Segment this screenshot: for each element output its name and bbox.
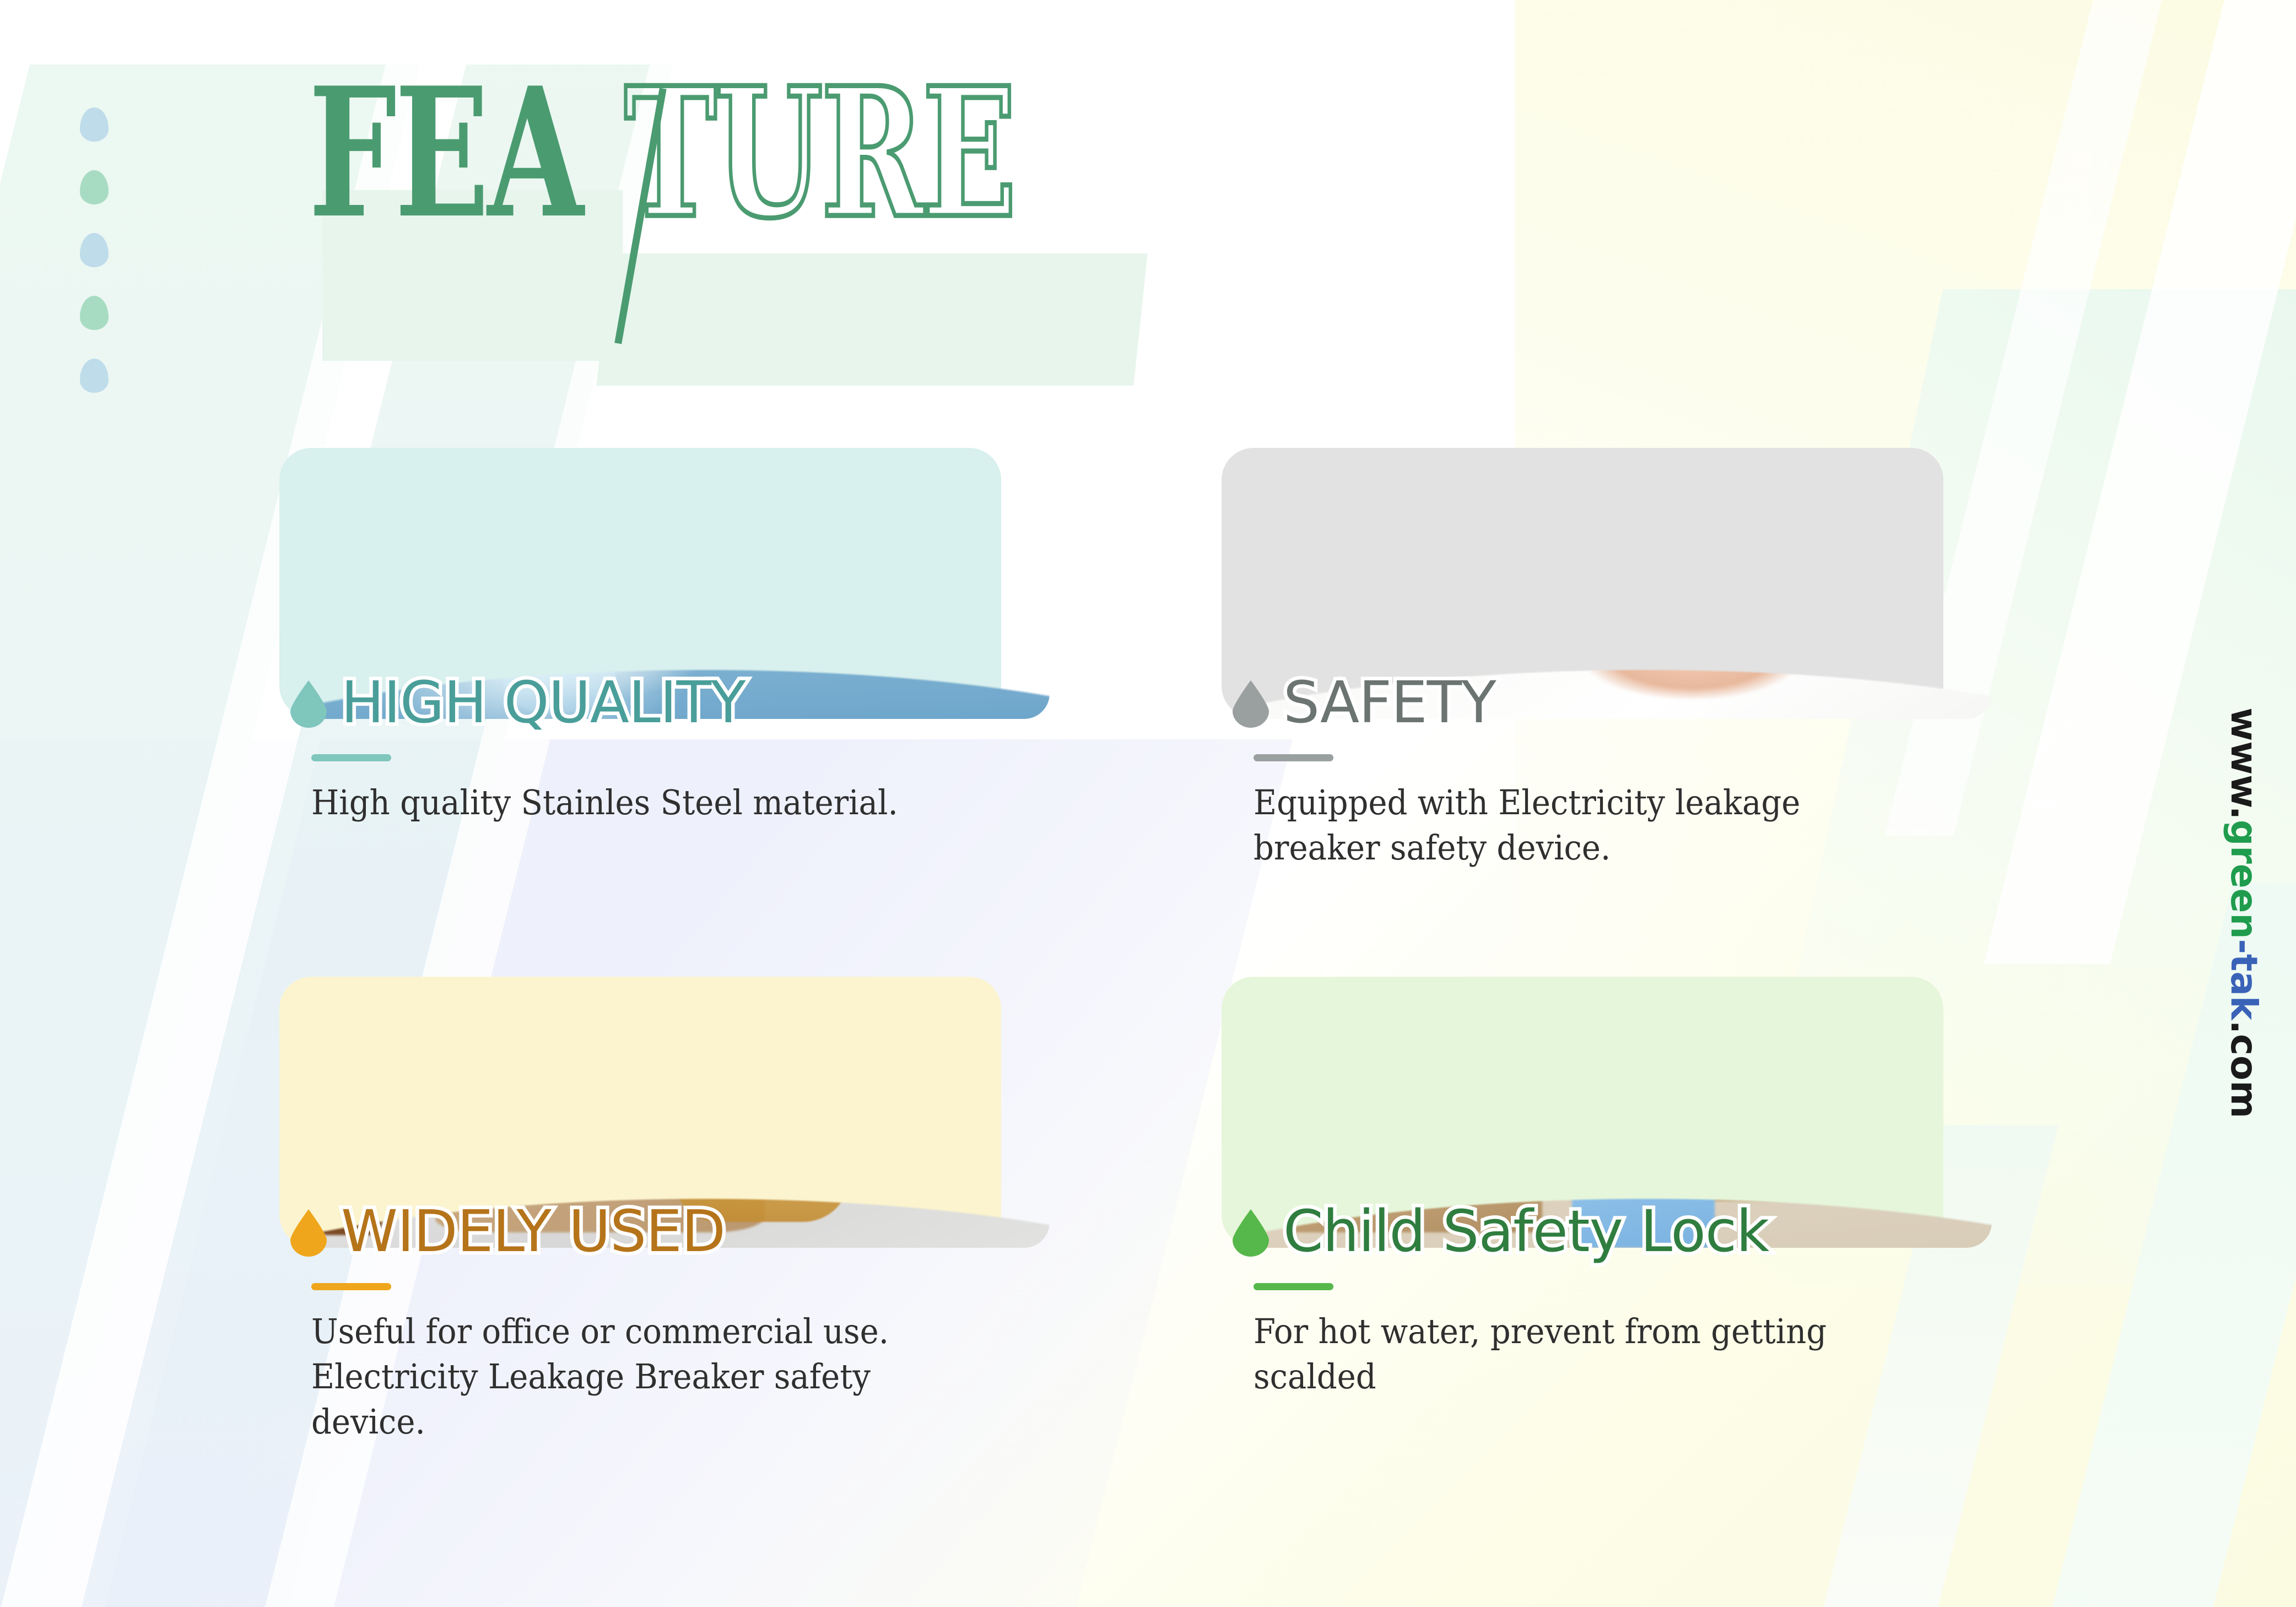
card-heading-row: HIGH QUALITY (290, 674, 1083, 731)
feature-card-safety[interactable]: SAFETY Equipped with Electricity leakage… (1242, 460, 2025, 870)
stacked-books-shape (1340, 1155, 1438, 1186)
feature-card-widely-used[interactable]: WIDELY USED Useful for office or commerc… (300, 989, 1083, 1444)
lemon-in-mug-back (548, 1025, 675, 1098)
card-heading-label: Child Safety Lock (1283, 1203, 1769, 1260)
card-heading-label: HIGH QUALITY (341, 674, 745, 731)
child-yellow-shape (1917, 1046, 1992, 1149)
card-accent-rule (311, 754, 391, 761)
red-heart-shape (1782, 472, 1901, 594)
child-blonde-shape (1767, 1036, 1894, 1165)
child-pink-shape (1512, 1025, 1617, 1113)
card-heading-row: SAFETY (1233, 674, 2025, 731)
child-blue-shape (1257, 1062, 1370, 1170)
water-drop-icon (1233, 1209, 1269, 1257)
url-prefix: www. (2223, 707, 2265, 820)
website-url[interactable]: www.green-tak.com (2223, 707, 2265, 1118)
card-heading-label: WIDELY USED (341, 1203, 725, 1260)
desk-right-shape (1707, 1149, 1947, 1201)
water-drop-icon (290, 1209, 327, 1257)
card-body-text: Useful for office or commercial use. Ele… (311, 1309, 982, 1444)
whole-lemon-shape (877, 1046, 975, 1139)
feature-card-child-safety-lock[interactable]: Child Safety Lock For hot water, prevent… (1242, 989, 2025, 1399)
card-heading-row: Child Safety Lock (1233, 1203, 2025, 1260)
url-tld: .com (2223, 1020, 2265, 1118)
teacher-jeans-shape (1632, 989, 1707, 1074)
card-heading-label: SAFETY (1283, 674, 1496, 731)
feature-card-grid: HIGH QUALITY High quality Stainles Steel… (0, 0, 2296, 1607)
water-drop-icon (290, 680, 327, 728)
card-accent-rule (1254, 754, 1333, 761)
water-drop-icon (1233, 680, 1269, 728)
lemon-in-mug-front (694, 1074, 825, 1149)
card-accent-rule (1254, 1283, 1333, 1290)
card-accent-rule (311, 1283, 391, 1290)
feature-card-high-quality[interactable]: HIGH QUALITY High quality Stainles Steel… (300, 460, 1083, 825)
card-body-text: High quality Stainles Steel material. (311, 780, 982, 825)
card-body-text: For hot water, prevent from getting scal… (1254, 1309, 1925, 1399)
url-brand: green (2223, 820, 2265, 939)
card-heading-row: WIDELY USED (290, 1203, 1083, 1260)
baby-ear-shape (1265, 517, 1332, 584)
url-suffix: -tak (2223, 939, 2265, 1020)
pencil-cup-shape (1670, 1077, 1730, 1124)
card-body-text: Equipped with Electricity leakage breake… (1254, 780, 1925, 870)
lemon-half-shape (428, 1018, 510, 1090)
